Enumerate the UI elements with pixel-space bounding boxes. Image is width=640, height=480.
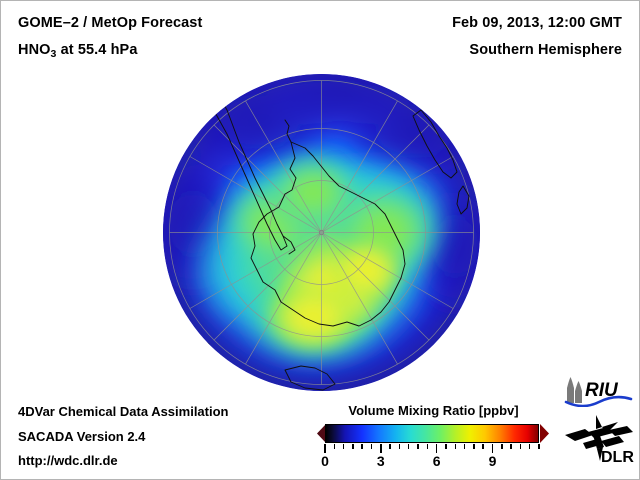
- colorbar: [317, 423, 549, 445]
- instrument-title: GOME–2 / MetOp Forecast: [18, 15, 202, 31]
- globe-disc: [163, 74, 480, 391]
- region-label: Southern Hemisphere: [469, 42, 622, 58]
- colorbar-minor-tick: [445, 444, 447, 449]
- colorbar-over-arrow: [540, 424, 549, 443]
- colorbar-minor-tick: [352, 444, 354, 449]
- colorbar-minor-tick: [389, 444, 391, 449]
- datetime-label: Feb 09, 2013, 12:00 GMT: [452, 15, 622, 31]
- colorbar-minor-tick: [361, 444, 363, 449]
- colorbar-minor-tick: [501, 444, 503, 449]
- colorbar-minor-tick: [408, 444, 410, 449]
- colorbar-tick-labels: 0369: [317, 453, 549, 473]
- colorbar-major-tick: [380, 444, 382, 453]
- colorbar-minor-tick: [464, 444, 466, 449]
- colorbar-title: Volume Mixing Ratio [ppbv]: [331, 403, 536, 418]
- footer-line-url[interactable]: http://wdc.dlr.de: [18, 453, 118, 468]
- colorbar-major-tick: [436, 444, 438, 453]
- colorbar-minor-tick: [371, 444, 373, 449]
- colorbar-minor-tick: [417, 444, 419, 449]
- colorbar-minor-tick: [334, 444, 336, 449]
- riu-towers-icon: [567, 377, 582, 403]
- riu-logo: RIU: [561, 377, 635, 407]
- colorbar-tick-label: 0: [321, 453, 329, 469]
- species-level-suffix: at 55.4 hPa: [56, 42, 137, 58]
- colorbar-minor-tick: [538, 444, 540, 449]
- figure-canvas: GOME–2 / MetOp Forecast HNO3 at 55.4 hPa…: [0, 0, 640, 480]
- footer-line-assimilation: 4DVar Chemical Data Assimilation: [18, 404, 229, 419]
- colorbar-minor-tick: [529, 444, 531, 449]
- colorbar-major-tick: [492, 444, 494, 453]
- dlr-logo: DLR: [563, 413, 637, 465]
- colorbar-tick-label: 6: [433, 453, 441, 469]
- colorbar-minor-tick: [510, 444, 512, 449]
- colorbar-minor-tick: [473, 444, 475, 449]
- dlr-wordmark: DLR: [601, 449, 634, 465]
- colorbar-tick-label: 3: [377, 453, 385, 469]
- polar-map-globe: [163, 74, 480, 391]
- hno3-field-plot: [163, 74, 480, 391]
- colorbar-minor-tick: [482, 444, 484, 449]
- colorbar-tick-label: 9: [489, 453, 497, 469]
- colorbar-minor-tick: [399, 444, 401, 449]
- graticule: [170, 81, 474, 385]
- colorbar-ticks: [317, 444, 549, 453]
- colorbar-minor-tick: [427, 444, 429, 449]
- colorbar-minor-tick: [520, 444, 522, 449]
- species-formula-prefix: HNO: [18, 42, 51, 58]
- species-level-title: HNO3 at 55.4 hPa: [18, 42, 137, 60]
- footer-line-version: SACADA Version 2.4: [18, 429, 145, 444]
- colorbar-gradient: [325, 424, 539, 443]
- colorbar-minor-tick: [455, 444, 457, 449]
- colorbar-minor-tick: [343, 444, 345, 449]
- colorbar-major-tick: [324, 444, 326, 453]
